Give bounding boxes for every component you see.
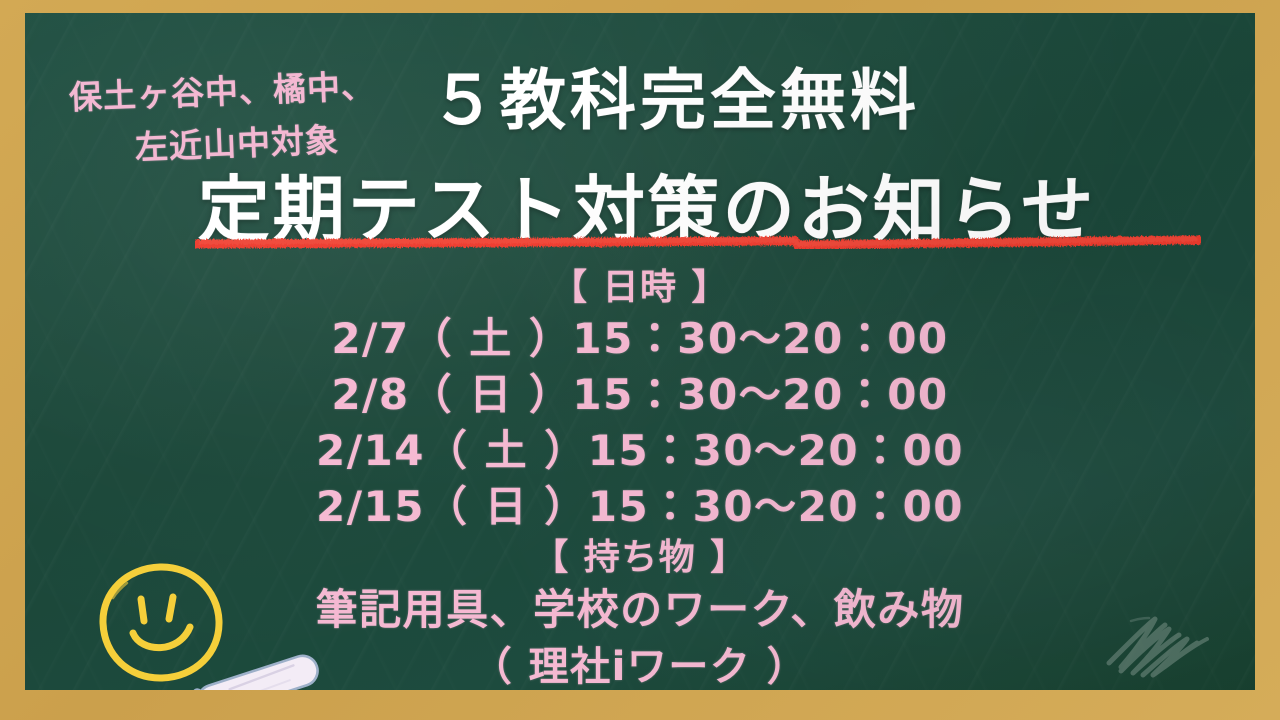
- schedule-row: 2/14（ 土 ）15：30〜20：00: [25, 423, 1255, 479]
- schedule-row: 2/15（ 日 ）15：30〜20：00: [25, 479, 1255, 535]
- headline-free-five-subjects: ５教科完全無料: [25, 47, 1255, 143]
- datetime-label: 【 日時 】: [25, 265, 1255, 311]
- chalkboard-poster: 保土ヶ谷中、橘中、 左近山中対象 ５教科完全無料 定期テスト対策のお知らせ 【 …: [0, 0, 1280, 720]
- chalkboard-surface: 保土ヶ谷中、橘中、 左近山中対象 ５教科完全無料 定期テスト対策のお知らせ 【 …: [25, 13, 1255, 690]
- schedule-row: 2/8（ 日 ）15：30〜20：00: [25, 367, 1255, 423]
- schedule-row: 2/7（ 土 ）15：30〜20：00: [25, 311, 1255, 367]
- chalk-sticks-icon: [173, 641, 363, 690]
- eraser-scribble-icon: [1103, 611, 1229, 683]
- red-chalk-underline: [195, 235, 1201, 249]
